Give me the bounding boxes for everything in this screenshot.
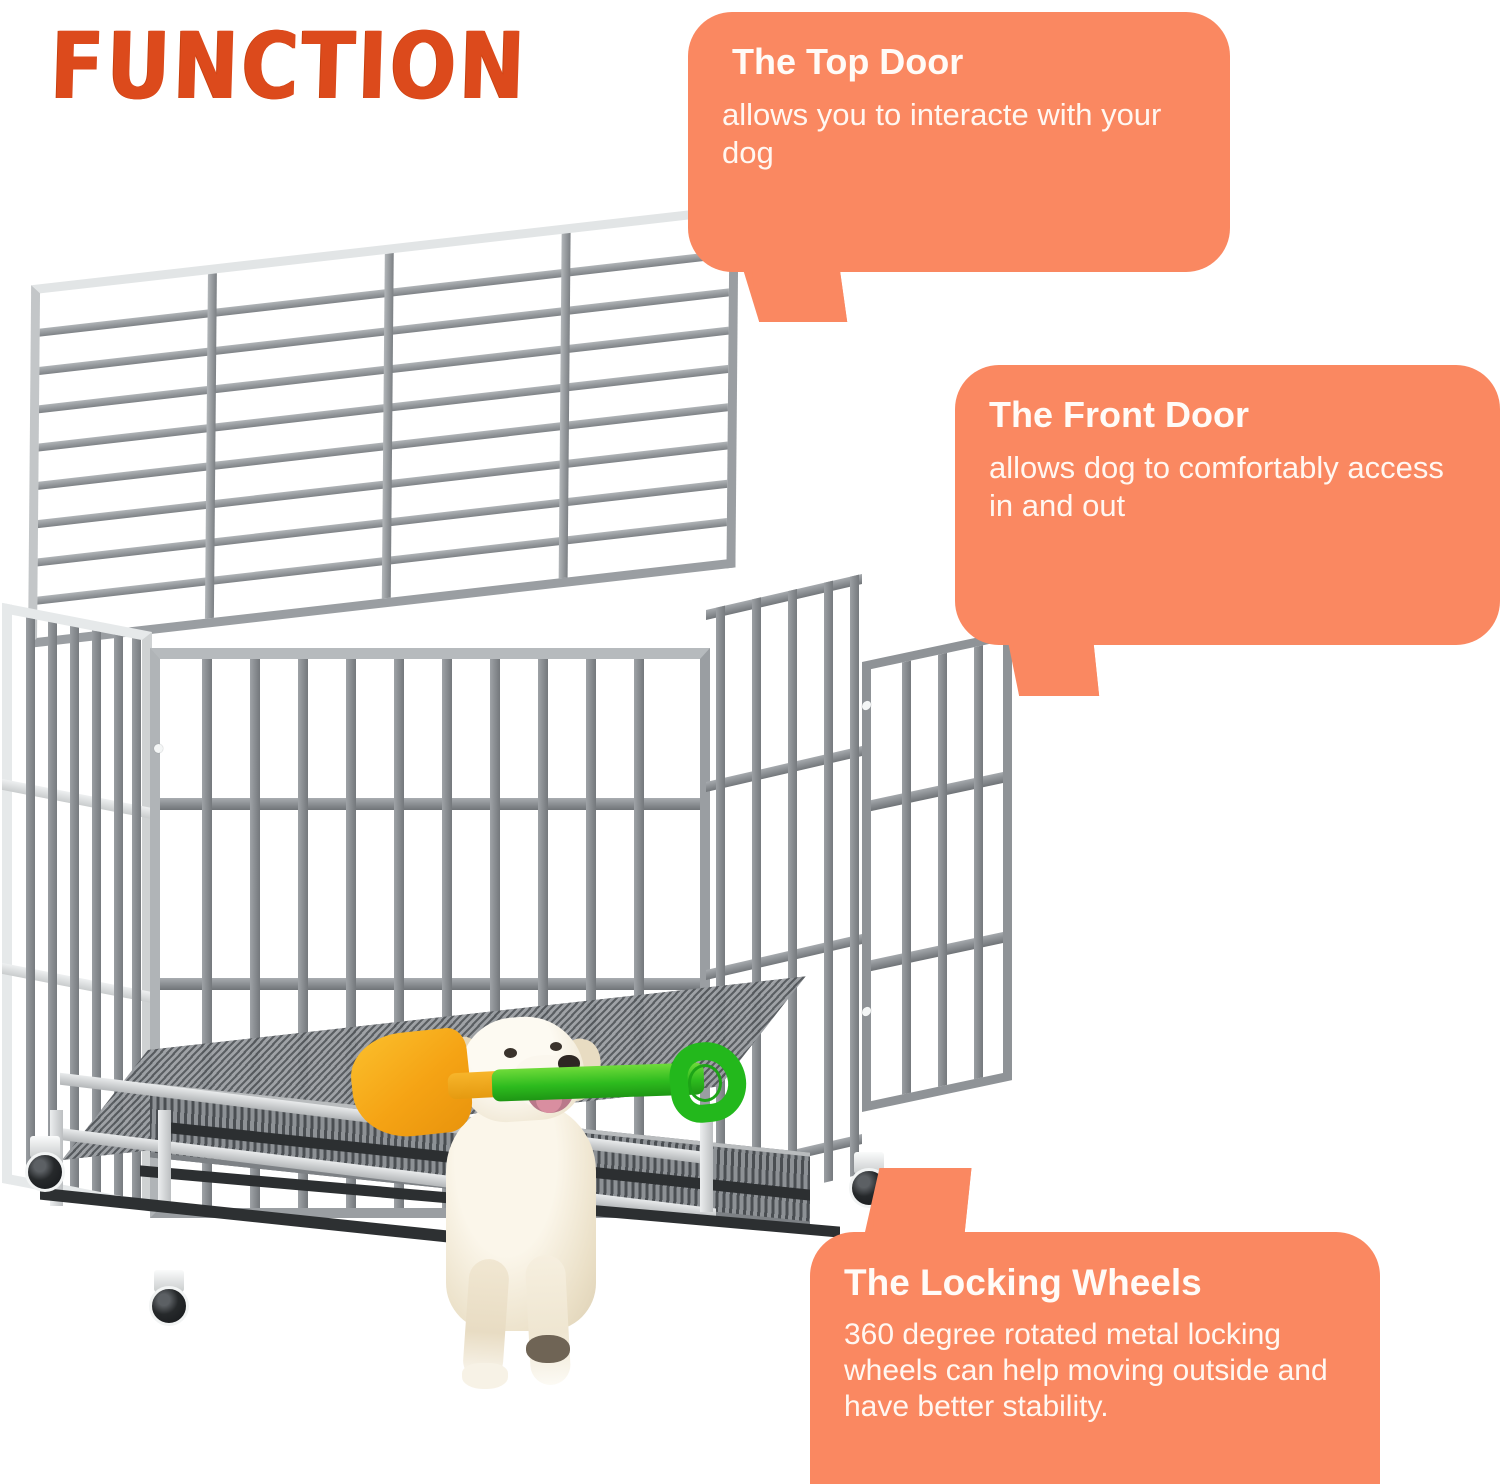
- toy-handle-inner: [688, 1064, 722, 1102]
- rear-wall-rail: [706, 746, 862, 792]
- rear-wall-rail: [706, 574, 862, 620]
- rear-wall-bar: [850, 575, 859, 1177]
- dog-paw: [526, 1335, 570, 1363]
- caster-tire: [149, 1286, 189, 1326]
- front-wall-crossbar: [160, 798, 700, 810]
- callout-front-door: The Front Door allows dog to comfortably…: [955, 365, 1500, 645]
- caster-wheel[interactable]: [22, 1136, 68, 1192]
- callout-title: The Locking Wheels: [844, 1262, 1346, 1303]
- left-wall-bar: [26, 618, 35, 1180]
- front-wall-rivet: [154, 744, 163, 753]
- base-post: [158, 1110, 171, 1210]
- front-wall-crossbar: [160, 978, 700, 990]
- front-door-bar: [974, 645, 983, 1079]
- callout-title: The Top Door: [732, 42, 1196, 82]
- callout-top-door: The Top Door allows you to interacte wit…: [688, 12, 1230, 272]
- callout-title: The Front Door: [989, 395, 1466, 435]
- dog-front-leg: [525, 1254, 572, 1386]
- left-wall-bar: [92, 630, 101, 1192]
- left-wall-bar: [70, 626, 79, 1188]
- front-door-panel[interactable]: [862, 630, 1012, 1112]
- callout-tail-locking-wheels: [865, 1168, 972, 1234]
- rear-wall-rail: [706, 934, 862, 980]
- page-title: FUNCTION: [49, 14, 529, 120]
- rear-wall-bar: [788, 589, 797, 1191]
- front-door-bar: [938, 653, 947, 1087]
- top-door-panel: [28, 205, 739, 648]
- callout-body: 360 degree rotated metal locking wheels …: [844, 1317, 1346, 1425]
- rear-wall-bar: [824, 581, 833, 1183]
- infographic-canvas: FUNCTION: [0, 0, 1500, 1484]
- dog-paw: [462, 1363, 508, 1389]
- caster-wheel[interactable]: [146, 1270, 192, 1326]
- front-door-frame: [862, 630, 1012, 1112]
- caster-tire: [25, 1152, 65, 1192]
- shovel-chew-toy: [352, 1028, 752, 1144]
- callout-body: allows dog to comfortably access in and …: [989, 449, 1466, 525]
- callout-tail-front-door: [1007, 636, 1099, 696]
- left-wall-bar: [48, 622, 57, 1184]
- callout-body: allows you to interacte with your dog: [722, 96, 1196, 172]
- callout-locking-wheels: The Locking Wheels 360 degree rotated me…: [810, 1232, 1380, 1484]
- front-door-bar: [902, 661, 911, 1095]
